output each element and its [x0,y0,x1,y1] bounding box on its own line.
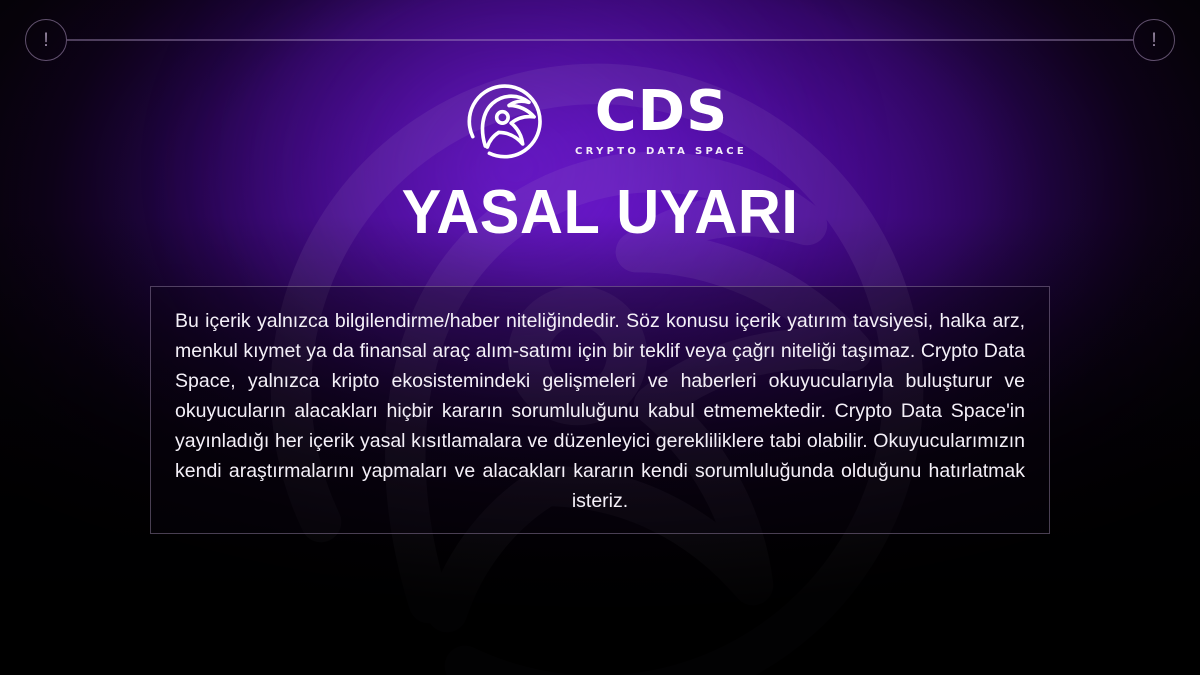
exclamation-icon-right: ! [1133,19,1175,61]
brand-tagline: CRYPTO DATA SPACE [575,147,747,157]
brand-wordmark: CDS CRYPTO DATA SPACE [575,84,747,157]
cds-bird-circle-icon [453,68,557,172]
brand-logo-lockup: CDS CRYPTO DATA SPACE [0,68,1200,172]
divider-line [67,39,1133,41]
exclamation-glyph-left: ! [43,31,48,50]
exclamation-glyph-right: ! [1151,31,1156,50]
top-divider-rule: ! ! [25,19,1175,61]
disclaimer-panel: Bu içerik yalnızca bilgilendirme/haber n… [150,286,1050,534]
page-title: YASAL UYARI [24,180,1176,247]
brand-wordmark-text: CDS [594,84,728,140]
disclaimer-body-text: Bu içerik yalnızca bilgilendirme/haber n… [175,306,1025,516]
exclamation-icon-left: ! [25,19,67,61]
slide-canvas: ! ! CDS CRYPTO DATA SPACE [0,0,1200,675]
